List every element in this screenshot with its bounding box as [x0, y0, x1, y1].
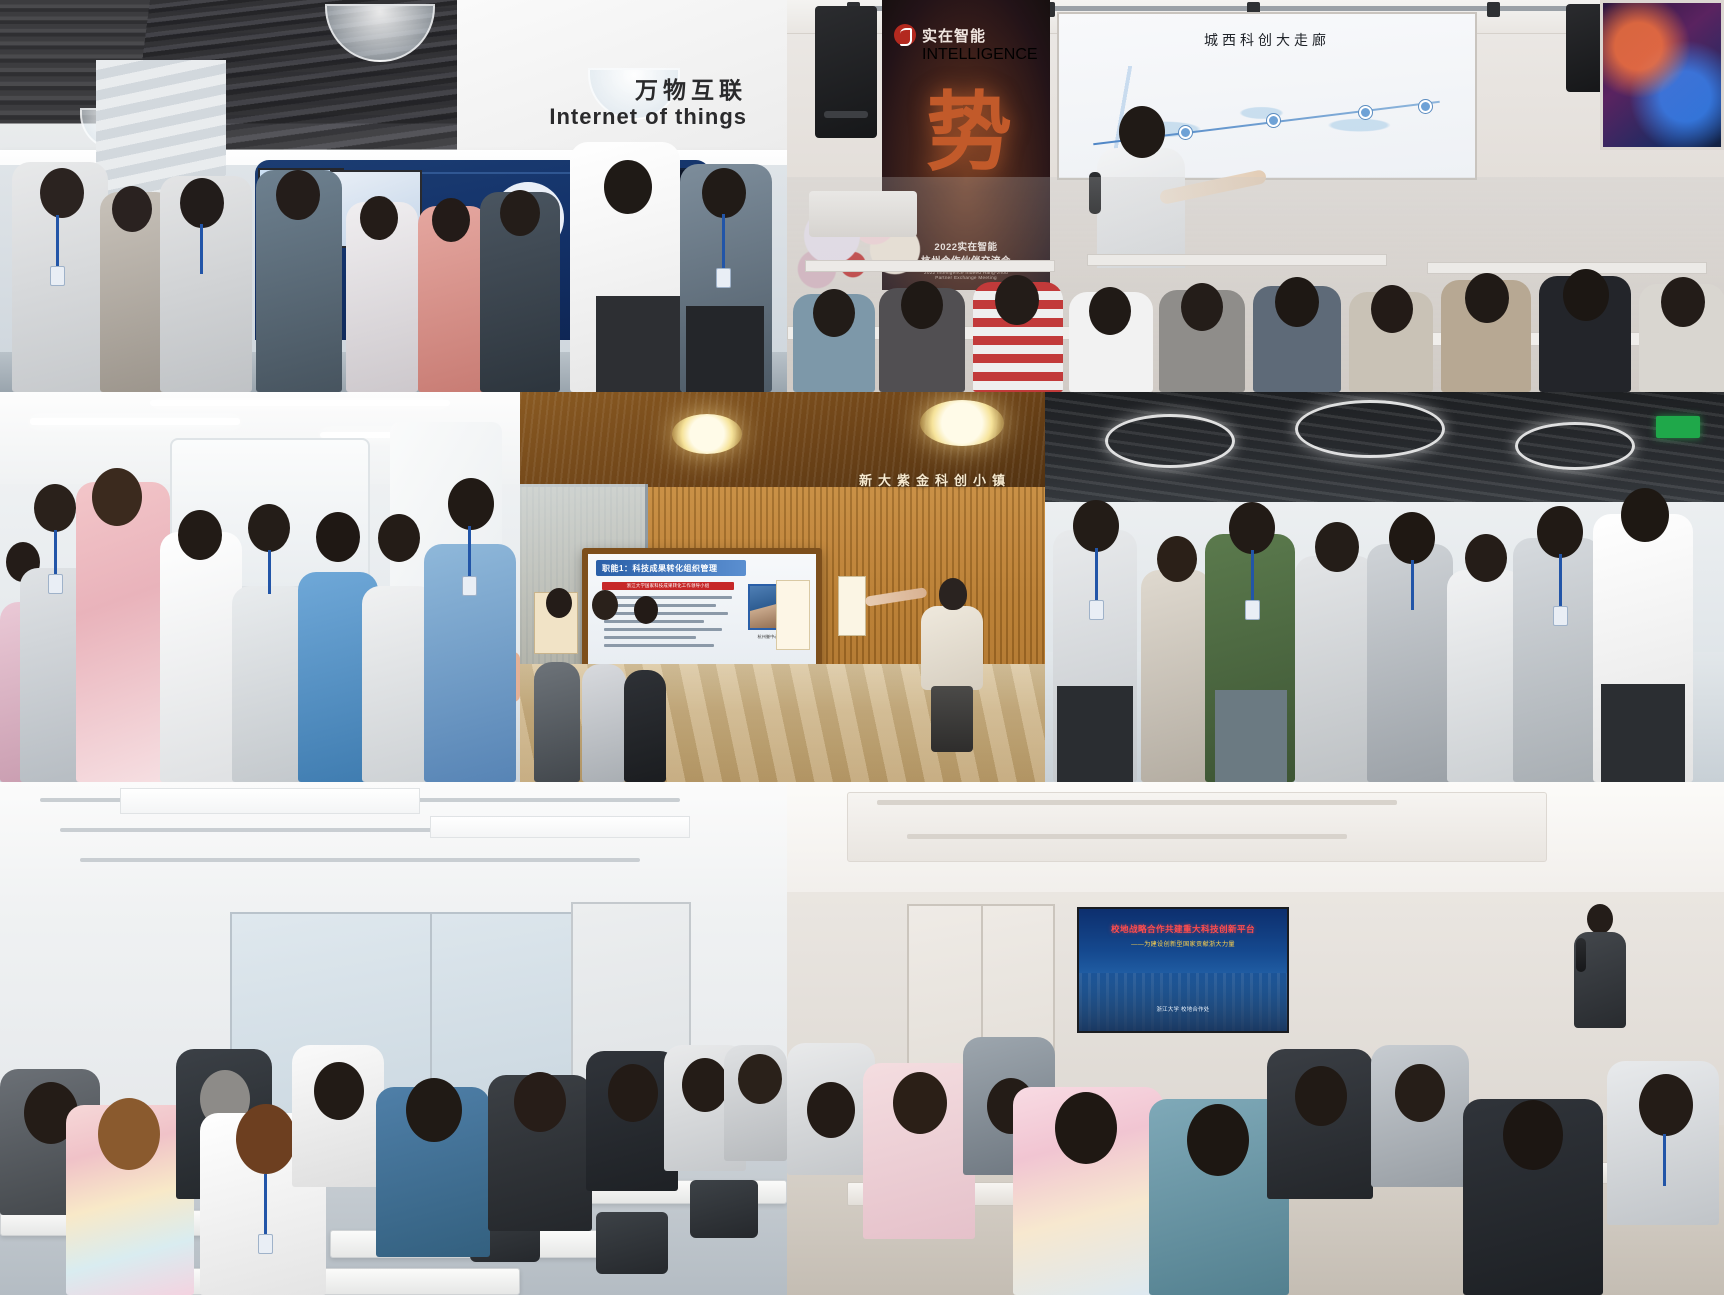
- visitor-head: [500, 190, 540, 236]
- attendee-head: [1661, 277, 1705, 327]
- panel-conference[interactable]: 校地战略合作共建重大科技创新平台 ——为建设创新型国家贡献浙大力量 浙江大学 校…: [787, 782, 1724, 1295]
- badge: [462, 576, 477, 596]
- spotlight-icon: [1487, 2, 1500, 17]
- visitor: [1447, 570, 1523, 782]
- screen-text-line: [604, 604, 716, 607]
- presenter-torso: [921, 606, 983, 690]
- visitor: [232, 586, 308, 782]
- panel-exhibition-hall[interactable]: 万物互联 Internet of things: [0, 0, 787, 392]
- badge: [50, 266, 65, 286]
- trousers: [1057, 686, 1133, 782]
- audience: [787, 177, 1724, 392]
- lanyard: [1411, 560, 1414, 610]
- visitor-head: [1229, 502, 1275, 554]
- attendee-head: [682, 1058, 728, 1112]
- lanyard: [1663, 1134, 1666, 1186]
- lanyard: [468, 526, 471, 578]
- presenter: [1574, 904, 1626, 1054]
- attendee-head: [813, 289, 855, 337]
- lanyard: [264, 1174, 267, 1236]
- lanyard: [54, 530, 57, 576]
- ceiling-rail: [877, 800, 1397, 805]
- visitor-head: [1389, 512, 1435, 564]
- wall-screen-frame: 职能1：科技成果转化组织管理 浙江大学国家科技成果转化工作领导小组 杭州誉中心: [582, 548, 822, 670]
- wall-signage: 万物互联 Internet of things: [549, 78, 747, 129]
- projection-screen: 校地战略合作共建重大科技创新平台 ——为建设创新型国家贡献浙大力量 浙江大学 校…: [1077, 907, 1289, 1033]
- presenter-legs: [931, 686, 973, 752]
- lanyard: [268, 550, 271, 594]
- light-strip: [30, 418, 240, 425]
- lanyard: [1559, 554, 1562, 608]
- chair: [596, 1212, 668, 1274]
- ring-light-icon: [1295, 400, 1445, 458]
- ceiling-rail: [907, 834, 1347, 839]
- visitor-head: [112, 186, 152, 232]
- brand-logo: 实在智能: [894, 24, 986, 46]
- attendee-head: [893, 1072, 947, 1134]
- visitor-head: [1621, 488, 1669, 542]
- exhibition-hall-photo: 万物互联 Internet of things: [0, 0, 787, 392]
- wall-sign: 新大紫金科创小镇: [859, 470, 1011, 489]
- ceiling-panel: [430, 816, 690, 838]
- attendee-head: [807, 1082, 855, 1138]
- visitor-head: [34, 484, 76, 532]
- banner-hero-character: 势: [926, 62, 1012, 187]
- attendee-head: [1503, 1100, 1563, 1170]
- brand-mark-icon: [894, 24, 916, 46]
- attendee-head: [738, 1054, 782, 1104]
- screen-subheading: 浙江大学国家科技成果转化工作领导小组: [602, 582, 734, 590]
- presenter-guide: [921, 572, 983, 752]
- attendee-head: [995, 275, 1039, 325]
- visitor-head: [546, 588, 572, 618]
- loudspeaker: [815, 6, 877, 138]
- badge: [1245, 600, 1260, 620]
- lobby-photo: 新大紫金科创小镇 职能1：科技成果转化组织管理 浙江大学国家科技成果转化工作领导…: [520, 392, 1045, 782]
- screen-heading: 职能1：科技成果转化组织管理: [596, 560, 746, 576]
- attendee-head: [901, 281, 943, 329]
- visitor-head: [378, 514, 420, 562]
- visitor-head: [178, 510, 222, 560]
- signage-chinese: 万物互联: [549, 78, 747, 103]
- photo-collage: 万物互联 Internet of things: [0, 0, 1724, 1295]
- attendee-head: [1563, 269, 1609, 321]
- conference-photo: 校地战略合作共建重大科技创新平台 ——为建设创新型国家贡献浙大力量 浙江大学 校…: [787, 782, 1724, 1295]
- presenter-head: [1119, 106, 1165, 158]
- visitor: [76, 482, 170, 782]
- ring-light-icon: [1515, 422, 1635, 470]
- lanyard: [200, 224, 203, 274]
- desk: [1427, 262, 1707, 274]
- badge: [716, 268, 731, 288]
- visitor-head: [702, 168, 746, 218]
- screen-text-line: [604, 620, 704, 623]
- exit-sign: [1656, 416, 1700, 438]
- attendee-head: [1371, 285, 1413, 333]
- visitor-head: [92, 468, 142, 526]
- lanyard: [1095, 548, 1098, 602]
- visitor: [582, 664, 626, 782]
- visitor: [534, 662, 580, 782]
- visitor: [1141, 570, 1211, 782]
- presenter-head: [939, 578, 967, 610]
- slide-title: 校地战略合作共建重大科技创新平台: [1079, 923, 1287, 935]
- attendee-head: [98, 1098, 160, 1170]
- slide-title: 城西科创大走廊: [1059, 30, 1475, 50]
- badge: [258, 1234, 273, 1254]
- map-node-icon: [1267, 114, 1280, 127]
- attendee-head: [1055, 1092, 1117, 1164]
- panel-lobby-screen[interactable]: 新大紫金科创小镇 职能1：科技成果转化组织管理 浙江大学国家科技成果转化工作领导…: [520, 392, 1045, 782]
- collage-row-3: 校地战略合作共建重大科技创新平台 ——为建设创新型国家贡献浙大力量 浙江大学 校…: [0, 782, 1724, 1295]
- attendee-head: [314, 1062, 364, 1120]
- drone-showroom-photo: [0, 392, 520, 782]
- attendee-head: [1295, 1066, 1347, 1126]
- microphone-icon: [1576, 938, 1586, 972]
- visitor: [1513, 538, 1601, 782]
- visitor-head: [316, 512, 360, 562]
- screen-text-line: [604, 636, 696, 639]
- visitor-head: [604, 160, 652, 214]
- ceiling-rail: [80, 858, 640, 862]
- dome-light-icon: [672, 414, 742, 454]
- attendee-head: [406, 1078, 462, 1142]
- visitor-head: [1157, 536, 1197, 582]
- attendee-head: [514, 1072, 566, 1132]
- trousers: [1601, 684, 1685, 782]
- showroom-crowd-photo: [1045, 392, 1724, 782]
- lanyard: [722, 214, 725, 270]
- seminar-room-photo: 实在智能 INTELLIGENCE 势 2022实在智能 杭州合作伙伴交流会 2…: [787, 0, 1724, 392]
- brand-name-cn: 实在智能: [922, 25, 986, 46]
- slide-footer: 浙江大学 校地合作处: [1079, 1005, 1287, 1013]
- badge: [1089, 600, 1104, 620]
- visitor-head: [248, 504, 290, 552]
- map-node-icon: [1179, 126, 1192, 139]
- visitor: [1295, 556, 1375, 782]
- attendee-head: [1187, 1104, 1249, 1176]
- light-strip: [150, 400, 450, 406]
- desk: [805, 260, 1055, 272]
- attendee-head: [608, 1064, 658, 1122]
- presenter-head: [1587, 904, 1613, 934]
- chair: [690, 1180, 758, 1238]
- collage-row-2: 新大紫金科创小镇 职能1：科技成果转化组织管理 浙江大学国家科技成果转化工作领导…: [0, 392, 1724, 782]
- visitor-head: [1315, 522, 1359, 572]
- signage-english: Internet of things: [549, 105, 747, 129]
- lobby-poster: [838, 576, 866, 636]
- panel-showroom-crowd[interactable]: [1045, 392, 1724, 782]
- slide-subtitle: ——为建设创新型国家贡献浙大力量: [1079, 939, 1287, 948]
- dome-light-icon: [920, 400, 1004, 446]
- screen-text-line: [604, 596, 732, 599]
- ceiling-panel: [120, 788, 420, 814]
- screen-text-line: [604, 644, 714, 647]
- attendee-head: [1275, 277, 1319, 327]
- attendee-head: [1181, 283, 1223, 331]
- visitor-head: [448, 478, 494, 530]
- presentation-screen: 职能1：科技成果转化组织管理 浙江大学国家科技成果转化工作领导小组 杭州誉中心: [588, 554, 816, 664]
- slide-skyline-graphic: [1079, 973, 1287, 1031]
- attendee-head: [1465, 273, 1509, 323]
- screen-text-line: [604, 612, 728, 615]
- visitor: [160, 532, 242, 782]
- trousers: [596, 296, 682, 392]
- attendee-head: [1639, 1074, 1693, 1136]
- panel-drone-showroom[interactable]: [0, 392, 520, 782]
- visitor-head: [592, 590, 618, 620]
- map-node-icon: [1359, 106, 1372, 119]
- screen-side-panel: [776, 580, 810, 650]
- attendee-head: [1395, 1064, 1445, 1122]
- lanyard: [1251, 550, 1254, 602]
- screen-text-line: [604, 628, 722, 631]
- visitor-head: [432, 198, 470, 242]
- visitor: [624, 670, 666, 782]
- visitor-head: [180, 178, 224, 228]
- ring-light-icon: [1105, 414, 1235, 468]
- panel-seminar-room[interactable]: 实在智能 INTELLIGENCE 势 2022实在智能 杭州合作伙伴交流会 2…: [787, 0, 1724, 392]
- visitor-head: [1465, 534, 1507, 582]
- visitor-head: [40, 168, 84, 218]
- trousers: [1215, 690, 1287, 782]
- attendee-head: [236, 1104, 296, 1174]
- desk: [1087, 254, 1387, 266]
- visitor-head: [634, 596, 658, 624]
- badge: [48, 574, 63, 594]
- badge: [1553, 606, 1568, 626]
- visitor-head: [360, 196, 398, 240]
- visitor: [1367, 544, 1453, 782]
- wall-artwork: [1600, 0, 1724, 150]
- collage-row-1: 万物互联 Internet of things: [0, 0, 1724, 392]
- map-node-icon: [1419, 100, 1432, 113]
- panel-classroom[interactable]: [0, 782, 787, 1295]
- visitor-head: [1073, 500, 1119, 552]
- classroom-photo: [0, 782, 787, 1295]
- visitor-head: [276, 170, 320, 220]
- trousers: [686, 306, 764, 392]
- attendee-head: [1089, 287, 1131, 335]
- lanyard: [56, 215, 59, 269]
- visitor-head: [1537, 506, 1583, 558]
